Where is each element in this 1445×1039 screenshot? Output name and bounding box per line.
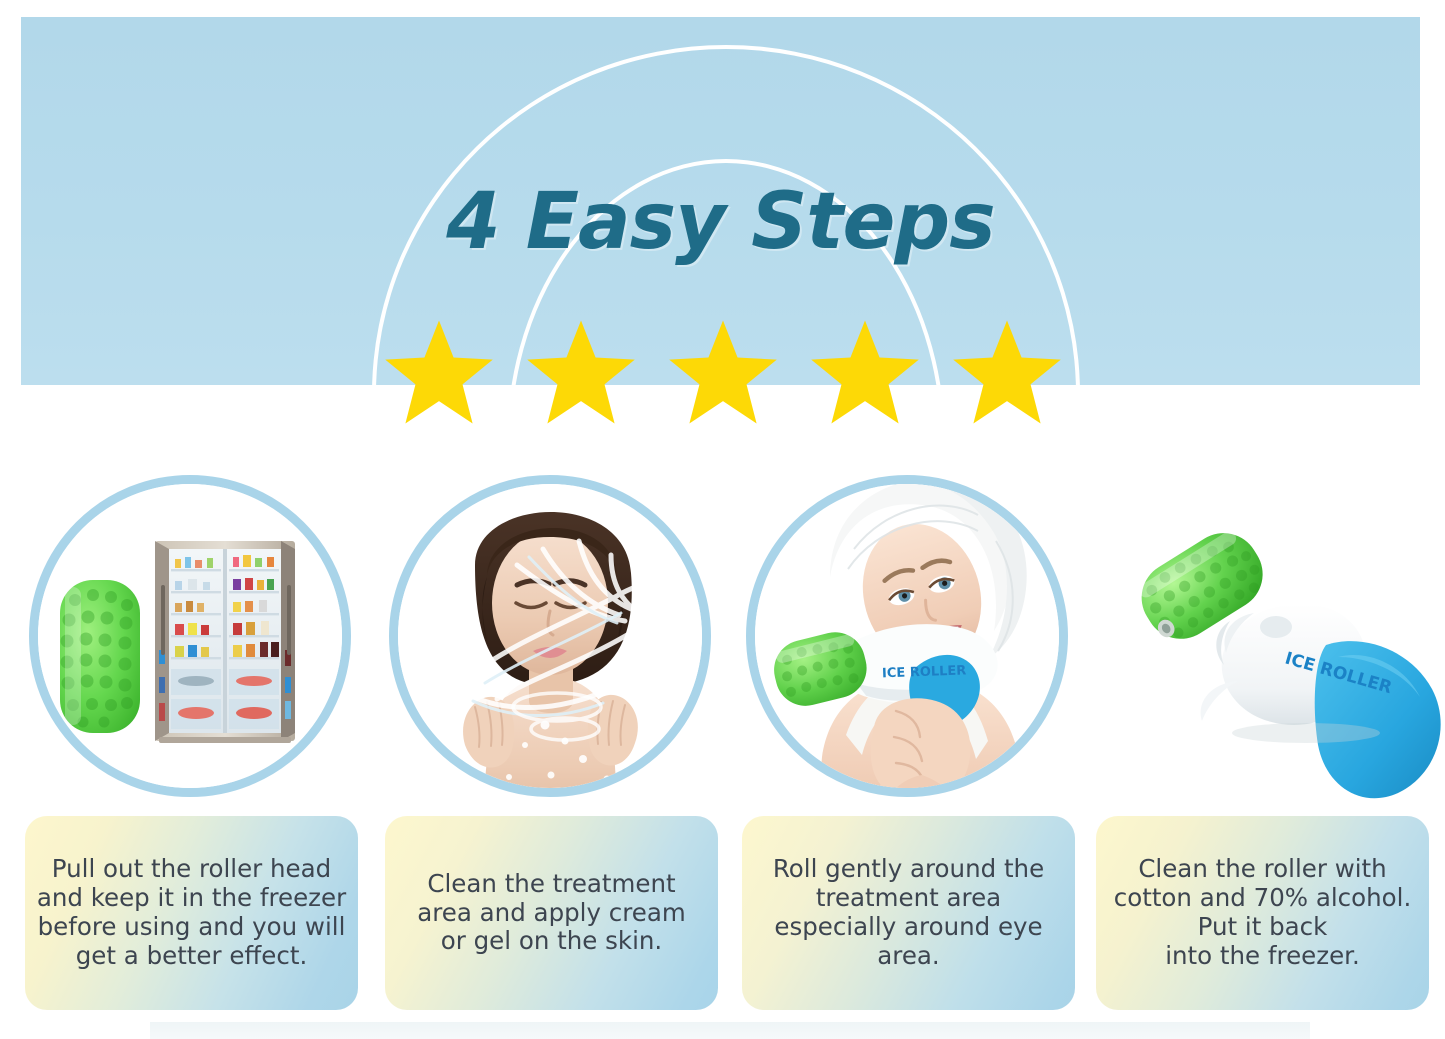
steps-row: Pull out the roller head and keep it in … bbox=[0, 470, 1445, 1039]
bottom-divider-strip bbox=[150, 1022, 1310, 1039]
step-caption: Roll gently around the treatment area es… bbox=[742, 816, 1075, 1010]
woman-with-towel-using-ice-roller-photo: ICE ROLLER bbox=[746, 475, 1068, 797]
step-caption: Clean the roller with cotton and 70% alc… bbox=[1096, 816, 1429, 1010]
page-title: 4 Easy Steps bbox=[21, 183, 1420, 261]
step-1-image-circle bbox=[29, 475, 351, 797]
step-caption-text: Clean the roller with cotton and 70% alc… bbox=[1114, 855, 1412, 971]
step-item: Pull out the roller head and keep it in … bbox=[12, 470, 372, 1039]
step-4-image-circle: ICE ROLLER bbox=[1100, 475, 1422, 797]
step-caption-text: Pull out the roller head and keep it in … bbox=[37, 855, 346, 971]
step-caption: Clean the treatment area and apply cream… bbox=[385, 816, 718, 1010]
step-item: ICE ROLLER Clean the roller with cotton … bbox=[1083, 470, 1443, 1039]
star-icon bbox=[525, 318, 637, 426]
roller-head-and-refrigerator-photo bbox=[29, 475, 351, 797]
star-rating bbox=[383, 318, 1063, 428]
step-2-image-circle bbox=[389, 475, 711, 797]
star-icon bbox=[951, 318, 1063, 426]
step-3-image-circle: ICE ROLLER bbox=[746, 475, 1068, 797]
svg-text:ICE ROLLER: ICE ROLLER bbox=[882, 663, 967, 681]
ice-roller-disassembled-photo: ICE ROLLER bbox=[1100, 475, 1422, 797]
step-caption-text: Clean the treatment area and apply cream… bbox=[417, 870, 685, 957]
star-icon bbox=[809, 318, 921, 426]
step-item: ICE ROLLER bbox=[729, 470, 1089, 1039]
step-caption-text: Roll gently around the treatment area es… bbox=[773, 855, 1044, 971]
woman-splashing-water-on-face-photo bbox=[389, 475, 711, 797]
infographic-page: 4 Easy Steps bbox=[0, 0, 1445, 1039]
step-item: Clean the treatment area and apply cream… bbox=[372, 470, 732, 1039]
star-icon bbox=[383, 318, 495, 426]
step-caption: Pull out the roller head and keep it in … bbox=[25, 816, 358, 1010]
star-icon bbox=[667, 318, 779, 426]
